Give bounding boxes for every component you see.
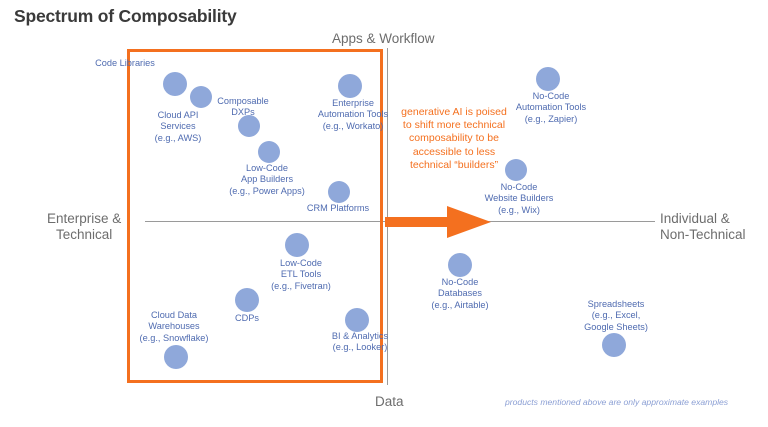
axis-label-left: Enterprise & Technical xyxy=(47,211,121,243)
bubble-label: Low-Code ETL Tools (e.g., Fivetran) xyxy=(241,258,361,292)
shift-arrow-icon xyxy=(385,206,491,238)
bubble-dot[interactable] xyxy=(602,333,626,357)
bubble-dot[interactable] xyxy=(285,233,309,257)
bubble-label: Composable DXPs xyxy=(183,96,303,119)
bubble-dot[interactable] xyxy=(448,253,472,277)
shift-annotation-text: generative AI is poised to shift more te… xyxy=(400,106,508,172)
diagram-canvas: Spectrum of Composability Apps & Workflo… xyxy=(0,0,768,427)
bubble-label: CRM Platforms xyxy=(278,203,398,214)
bubble-dot[interactable] xyxy=(328,181,350,203)
bubble-label: Spreadsheets (e.g., Excel, Google Sheets… xyxy=(556,299,676,333)
bubble-label: Enterprise Automation Tools (e.g., Worka… xyxy=(293,98,413,132)
bubble-dot[interactable] xyxy=(505,159,527,181)
bubble-dot[interactable] xyxy=(163,72,187,96)
bubble-label: Low-Code App Builders (e.g., Power Apps) xyxy=(207,163,327,197)
axis-label-bottom: Data xyxy=(375,394,404,410)
bubble-label: Code Libraries xyxy=(65,58,185,69)
bubble-dot[interactable] xyxy=(345,308,369,332)
bubble-dot[interactable] xyxy=(235,288,259,312)
footer-note: products mentioned above are only approx… xyxy=(505,397,728,407)
bubble-dot[interactable] xyxy=(164,345,188,369)
page-title: Spectrum of Composability xyxy=(14,6,237,27)
bubble-dot[interactable] xyxy=(536,67,560,91)
bubble-label: BI & Analytics (e.g., Looker) xyxy=(300,331,420,354)
bubble-label: Cloud Data Warehouses (e.g., Snowflake) xyxy=(114,310,234,344)
axis-label-right: Individual & Non-Technical xyxy=(660,211,746,243)
axis-label-top: Apps & Workflow xyxy=(332,31,435,47)
bubble-label: No-Code Automation Tools (e.g., Zapier) xyxy=(491,91,611,125)
bubble-label: No-Code Databases (e.g., Airtable) xyxy=(400,277,520,311)
bubble-dot[interactable] xyxy=(258,141,280,163)
bubble-dot[interactable] xyxy=(338,74,362,98)
